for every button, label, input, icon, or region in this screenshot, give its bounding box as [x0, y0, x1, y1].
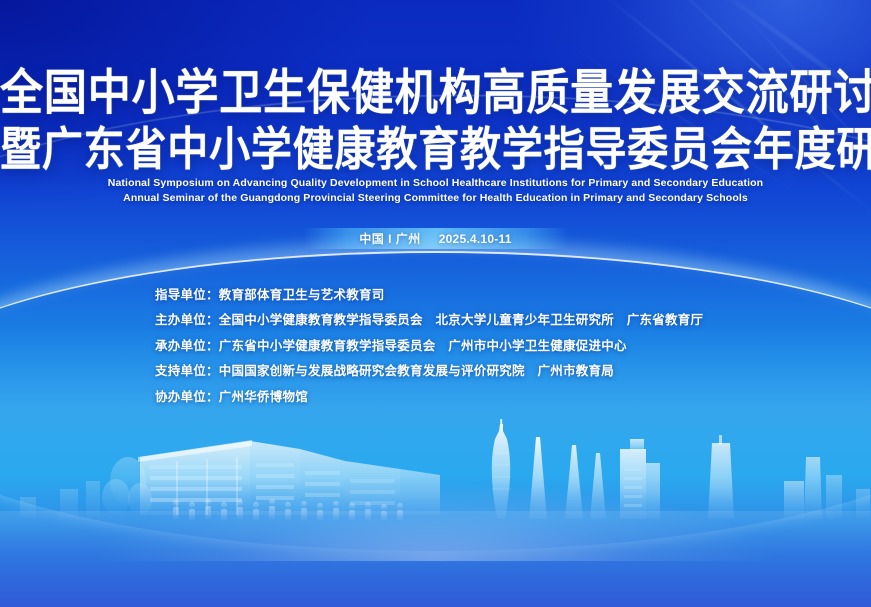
- tree-cluster-left: [102, 457, 152, 515]
- organization-label: 指导单位：: [155, 288, 219, 302]
- canton-tower: [492, 419, 511, 519]
- organization-row: 指导单位：教育部体育卫生与艺术教育司: [155, 288, 703, 302]
- left-faint-buildings: [20, 481, 100, 519]
- school-building: [138, 440, 440, 515]
- east-tower-skyscraper: [708, 435, 734, 519]
- organization-value: 全国中小学健康教育教学指导委员会 北京大学儿童青少年卫生研究所 广东省教育厅: [219, 313, 704, 327]
- bottom-gradient-fade: [0, 477, 871, 607]
- organization-row: 主办单位：全国中小学健康教育教学指导委员会 北京大学儿童青少年卫生研究所 广东省…: [155, 313, 703, 327]
- organization-label: 协办单位：: [155, 390, 219, 404]
- stepped-office-tower: [620, 439, 660, 519]
- organization-value: 教育部体育卫生与艺术教育司: [219, 288, 385, 302]
- poster-title-line-1: 全国中小学卫生保健机构高质量发展交流研讨活动: [0, 70, 871, 118]
- organization-list: 指导单位：教育部体育卫生与艺术教育司 主办单位：全国中小学健康教育教学指导委员会…: [155, 288, 703, 404]
- subtitle-english-line-2: Annual Seminar of the Guangdong Provinci…: [0, 191, 871, 206]
- organization-row: 协办单位：广州华侨博物馆: [155, 390, 703, 404]
- location-text: 中国 I 广州: [359, 230, 420, 247]
- conference-poster: 全国中小学卫生保健机构高质量发展交流研讨活动 暨广东省中小学健康教育教学指导委员…: [0, 0, 871, 607]
- student-crowd: [173, 499, 403, 520]
- organization-label: 承办单位：: [155, 339, 219, 353]
- poster-title-block: 全国中小学卫生保健机构高质量发展交流研讨活动 暨广东省中小学健康教育教学指导委员…: [0, 70, 871, 168]
- city-skyline-illustration: [0, 419, 871, 549]
- date-text: 2025.4.10-11: [439, 232, 512, 246]
- poster-subtitle-english: National Symposium on Advancing Quality …: [0, 176, 871, 206]
- organization-value: 中国国家创新与发展战略研究会教育发展与评价研究院 广州市教育局: [219, 364, 614, 378]
- organization-label: 主办单位：: [155, 313, 219, 327]
- organization-label: 支持单位：: [155, 364, 219, 378]
- location-date-band: 中国 I 广州 2025.4.10-11: [303, 228, 568, 249]
- subtitle-english-line-1: National Symposium on Advancing Quality …: [0, 176, 871, 191]
- organization-row: 承办单位：广东省中小学健康教育教学指导委员会 广州市中小学卫生健康促进中心: [155, 339, 703, 353]
- horizon-glow: [0, 471, 871, 561]
- organization-value: 广东省中小学健康教育教学指导委员会 广州市中小学卫生健康促进中心: [219, 339, 627, 353]
- right-low-rise-buildings: [784, 457, 870, 519]
- poster-title-line-2: 暨广东省中小学健康教育教学指导委员会年度研讨活动: [0, 127, 871, 173]
- organization-value: 广州华侨博物馆: [219, 390, 308, 404]
- twin-spire-towers: [529, 437, 606, 519]
- organization-row: 支持单位：中国国家创新与发展战略研究会教育发展与评价研究院 广州市教育局: [155, 364, 703, 378]
- skyline-svg: [0, 419, 871, 549]
